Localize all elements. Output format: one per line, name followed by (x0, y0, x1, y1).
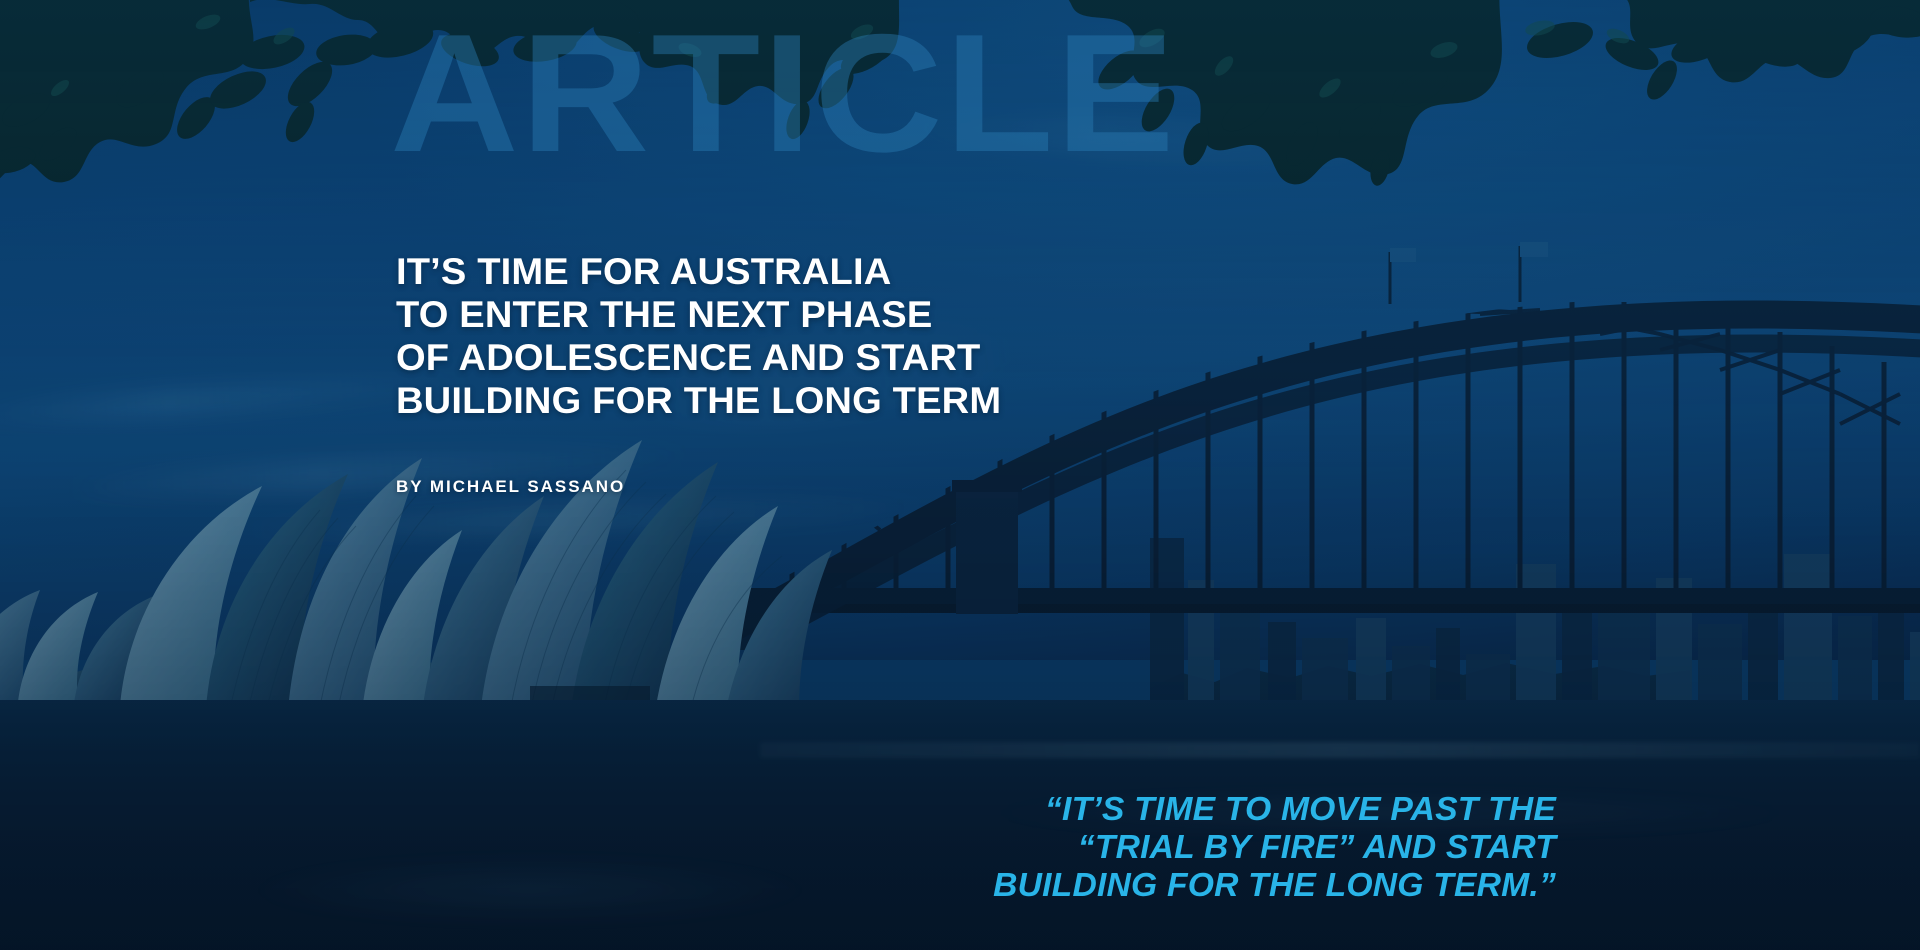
article-hero-banner: ARTICLE IT’S TIME FOR AUSTRALIA TO ENTER… (0, 0, 1920, 950)
pull-quote-line-1: “IT’S TIME TO MOVE PAST THE (0, 790, 1556, 828)
headline-line-4: BUILDING FOR THE LONG TERM (396, 379, 1001, 422)
page-title: IT’S TIME FOR AUSTRALIA TO ENTER THE NEX… (396, 250, 1001, 422)
hero-content: ARTICLE IT’S TIME FOR AUSTRALIA TO ENTER… (0, 0, 1920, 950)
author-byline: BY MICHAEL SASSANO (396, 477, 625, 497)
headline-line-2: TO ENTER THE NEXT PHASE (396, 293, 1001, 336)
headline-line-3: OF ADOLESCENCE AND START (396, 336, 1001, 379)
pull-quote-line-3: BUILDING FOR THE LONG TERM.” (0, 866, 1556, 904)
headline-line-1: IT’S TIME FOR AUSTRALIA (396, 250, 1001, 293)
pull-quote-line-2: “TRIAL BY FIRE” AND START (0, 828, 1556, 866)
watermark-label: ARTICLE (390, 14, 1177, 174)
pull-quote: “IT’S TIME TO MOVE PAST THE “TRIAL BY FI… (0, 790, 1556, 904)
